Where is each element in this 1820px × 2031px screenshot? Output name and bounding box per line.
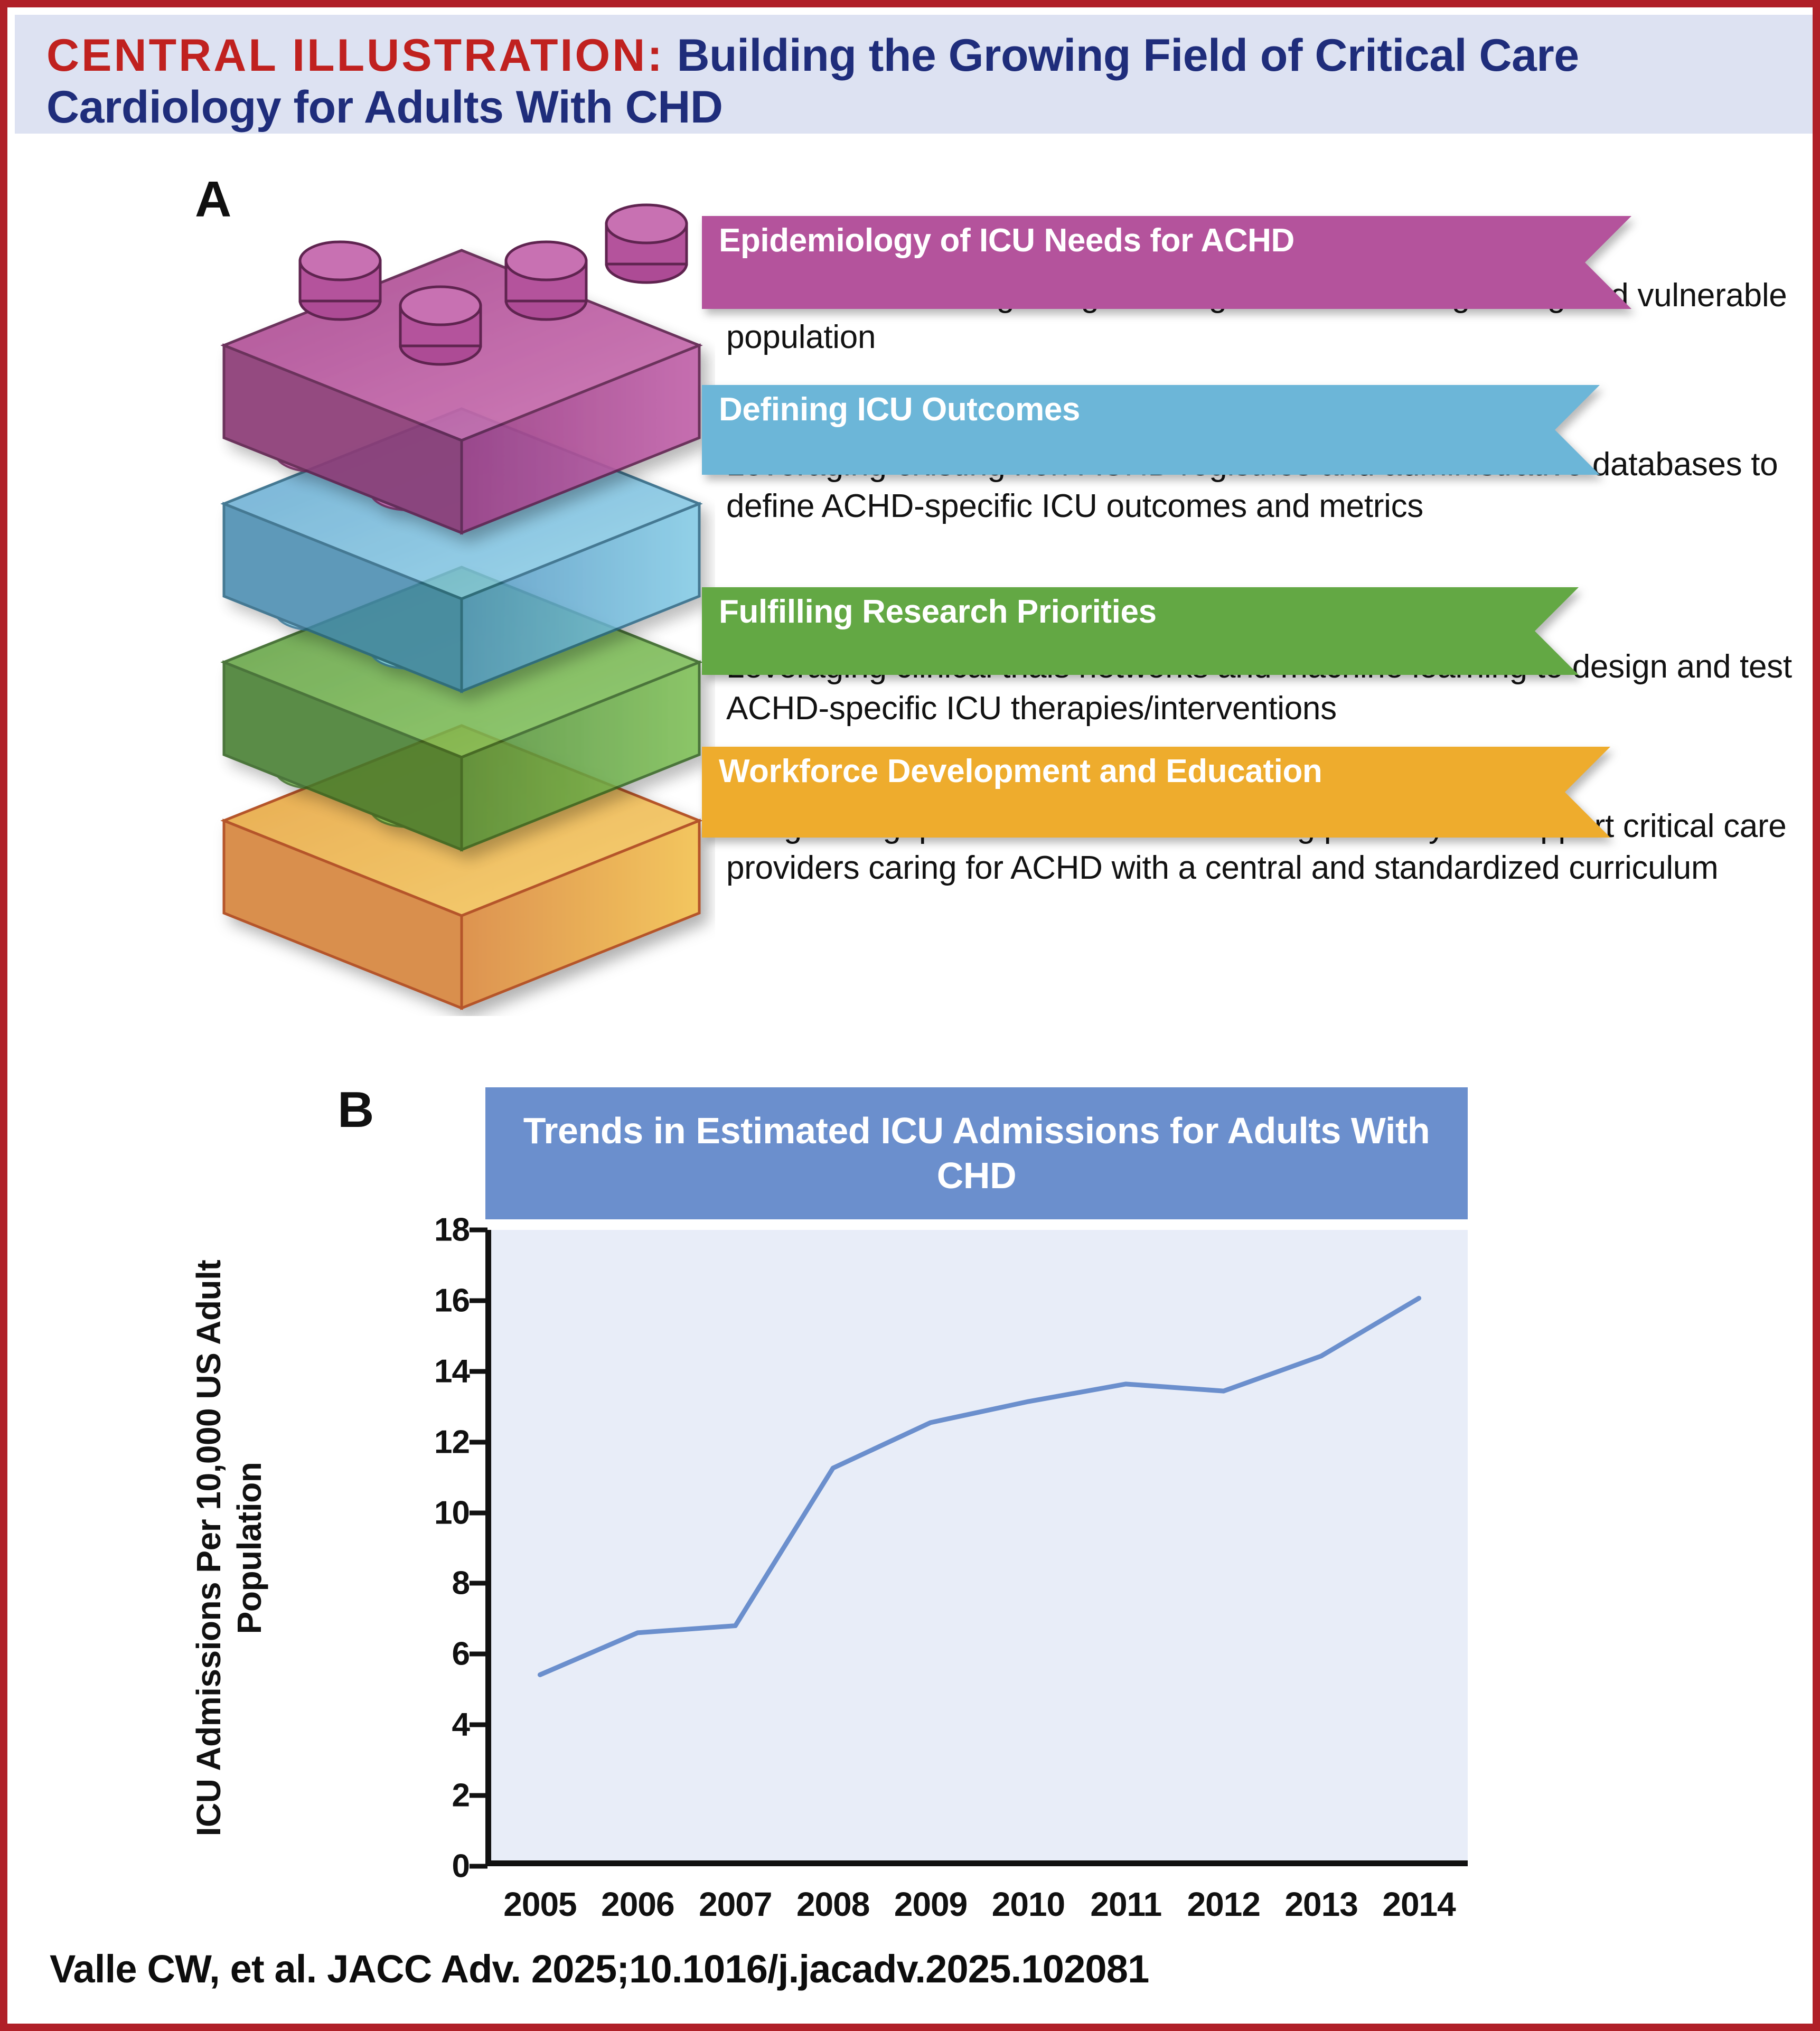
- x-tick-label: 2009: [894, 1885, 967, 1924]
- page-title: CENTRAL ILLUSTRATION: Building the Growi…: [46, 30, 1795, 133]
- x-tick-label: 2007: [699, 1885, 772, 1924]
- chart-plot-area: [485, 1230, 1468, 1866]
- y-tick-label: 12: [434, 1423, 470, 1461]
- y-tick-mark: [470, 1510, 487, 1515]
- x-tick-label: 2010: [992, 1885, 1065, 1924]
- x-tick-label: 2011: [1090, 1885, 1161, 1924]
- figure-header-banner: CENTRAL ILLUSTRATION: Building the Growi…: [15, 15, 1820, 134]
- y-tick-mark: [470, 1652, 487, 1657]
- pillar-label: Epidemiology of ICU Needs for ACHD: [719, 222, 1294, 259]
- chart-y-axis-label: ICU Admissions Per 10,000 US Adult Popul…: [190, 1230, 269, 1866]
- x-tick-label: 2012: [1187, 1885, 1260, 1924]
- chart-y-axis-ticks: 024681012141618: [390, 1230, 470, 1866]
- pillar-banner-outcomes: Defining ICU Outcomes: [702, 385, 1600, 434]
- central-illustration-figure: CENTRAL ILLUSTRATION: Building the Growi…: [0, 0, 1820, 2031]
- y-tick-mark: [470, 1440, 487, 1444]
- pillar-label: Defining ICU Outcomes: [719, 391, 1080, 428]
- header-prefix: CENTRAL ILLUSTRATION:: [46, 30, 664, 81]
- y-tick-label: 2: [452, 1777, 470, 1814]
- y-tick-label: 16: [434, 1282, 470, 1319]
- lego-block-stack-illustration: [208, 192, 715, 1016]
- x-tick-label: 2006: [601, 1885, 674, 1924]
- y-tick-label: 6: [452, 1635, 470, 1673]
- y-tick-mark: [470, 1369, 487, 1374]
- chart-x-axis-ticks: 2005200620072008200920102011201220132014: [491, 1879, 1468, 1938]
- pillar-row-workforce: Workforce Development and Education Brid…: [702, 747, 1813, 889]
- icu-admissions-line-chart: Trends in Estimated ICU Admissions for A…: [485, 1087, 1489, 1932]
- y-tick-mark: [470, 1793, 487, 1798]
- y-tick-mark: [470, 1228, 487, 1233]
- y-tick-mark: [470, 1581, 487, 1586]
- x-tick-label: 2014: [1382, 1885, 1455, 1924]
- panel-b-label: B: [337, 1085, 374, 1135]
- pillar-banner-epidemiology: Epidemiology of ICU Needs for ACHD: [702, 216, 1631, 265]
- y-tick-label: 18: [434, 1211, 470, 1249]
- y-tick-label: 8: [452, 1565, 470, 1602]
- pillar-label: Fulfilling Research Priorities: [719, 593, 1157, 631]
- pillar-banner-research: Fulfilling Research Priorities: [702, 587, 1579, 636]
- x-tick-label: 2013: [1284, 1885, 1357, 1924]
- y-tick-label: 4: [452, 1706, 470, 1744]
- y-tick-label: 10: [434, 1494, 470, 1531]
- chart-line-series: [491, 1230, 1468, 1860]
- pillar-row-outcomes: Defining ICU Outcomes Leveraging existin…: [702, 385, 1813, 527]
- y-tick-mark: [470, 1864, 487, 1869]
- pillar-label: Workforce Development and Education: [719, 753, 1322, 790]
- x-tick-label: 2008: [796, 1885, 869, 1924]
- pillar-banner-workforce: Workforce Development and Education: [702, 747, 1610, 795]
- x-tick-label: 2005: [503, 1885, 576, 1924]
- chart-title: Trends in Estimated ICU Admissions for A…: [485, 1087, 1468, 1219]
- y-tick-label: 14: [434, 1352, 470, 1390]
- pillar-row-research: Fulfilling Research Priorities Leveragin…: [702, 587, 1813, 729]
- y-tick-label: 0: [452, 1848, 470, 1885]
- y-tick-mark: [470, 1298, 487, 1303]
- y-tick-mark: [470, 1723, 487, 1727]
- pillar-row-epidemiology: Epidemiology of ICU Needs for ACHD Found…: [702, 216, 1813, 358]
- citation-text: Valle CW, et al. JACC Adv. 2025;10.1016/…: [50, 1947, 1149, 1991]
